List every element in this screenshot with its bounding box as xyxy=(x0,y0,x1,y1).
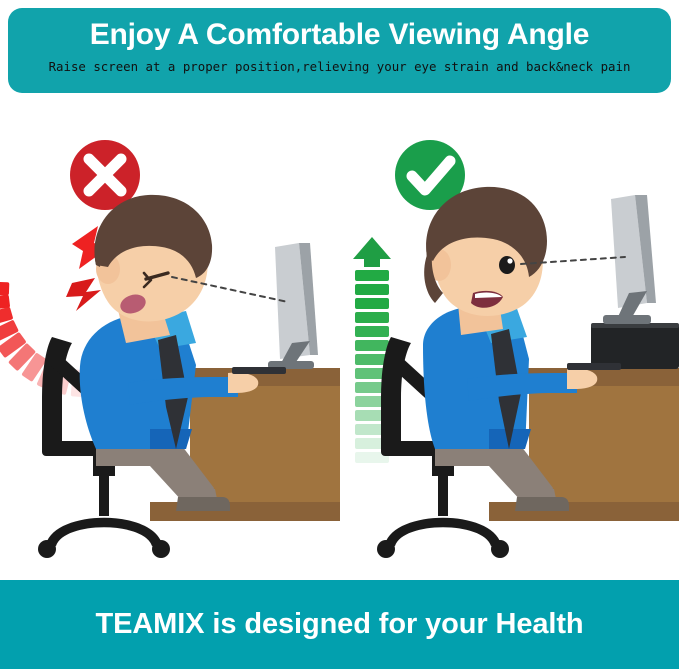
top-banner: Enjoy A Comfortable Viewing Angle Raise … xyxy=(8,8,671,93)
illustration-stage xyxy=(0,97,679,575)
bottom-banner-label: TEAMIX is designed for your Health xyxy=(95,608,583,641)
keyboard xyxy=(232,367,286,374)
monitor-riser xyxy=(591,323,679,369)
panel-bad-posture xyxy=(0,97,340,575)
headline-text: Enjoy A Comfortable Viewing Angle xyxy=(90,17,590,53)
subheadline-text: Raise screen at a proper position,reliev… xyxy=(49,58,631,76)
panel-good-posture xyxy=(339,97,679,575)
monitor-raised xyxy=(603,195,656,324)
keyboard xyxy=(567,363,621,370)
monitor-low xyxy=(268,243,318,369)
bottom-banner: TEAMIX is designed for your Health xyxy=(0,580,679,669)
infographic-page: Enjoy A Comfortable Viewing Angle Raise … xyxy=(0,0,679,669)
